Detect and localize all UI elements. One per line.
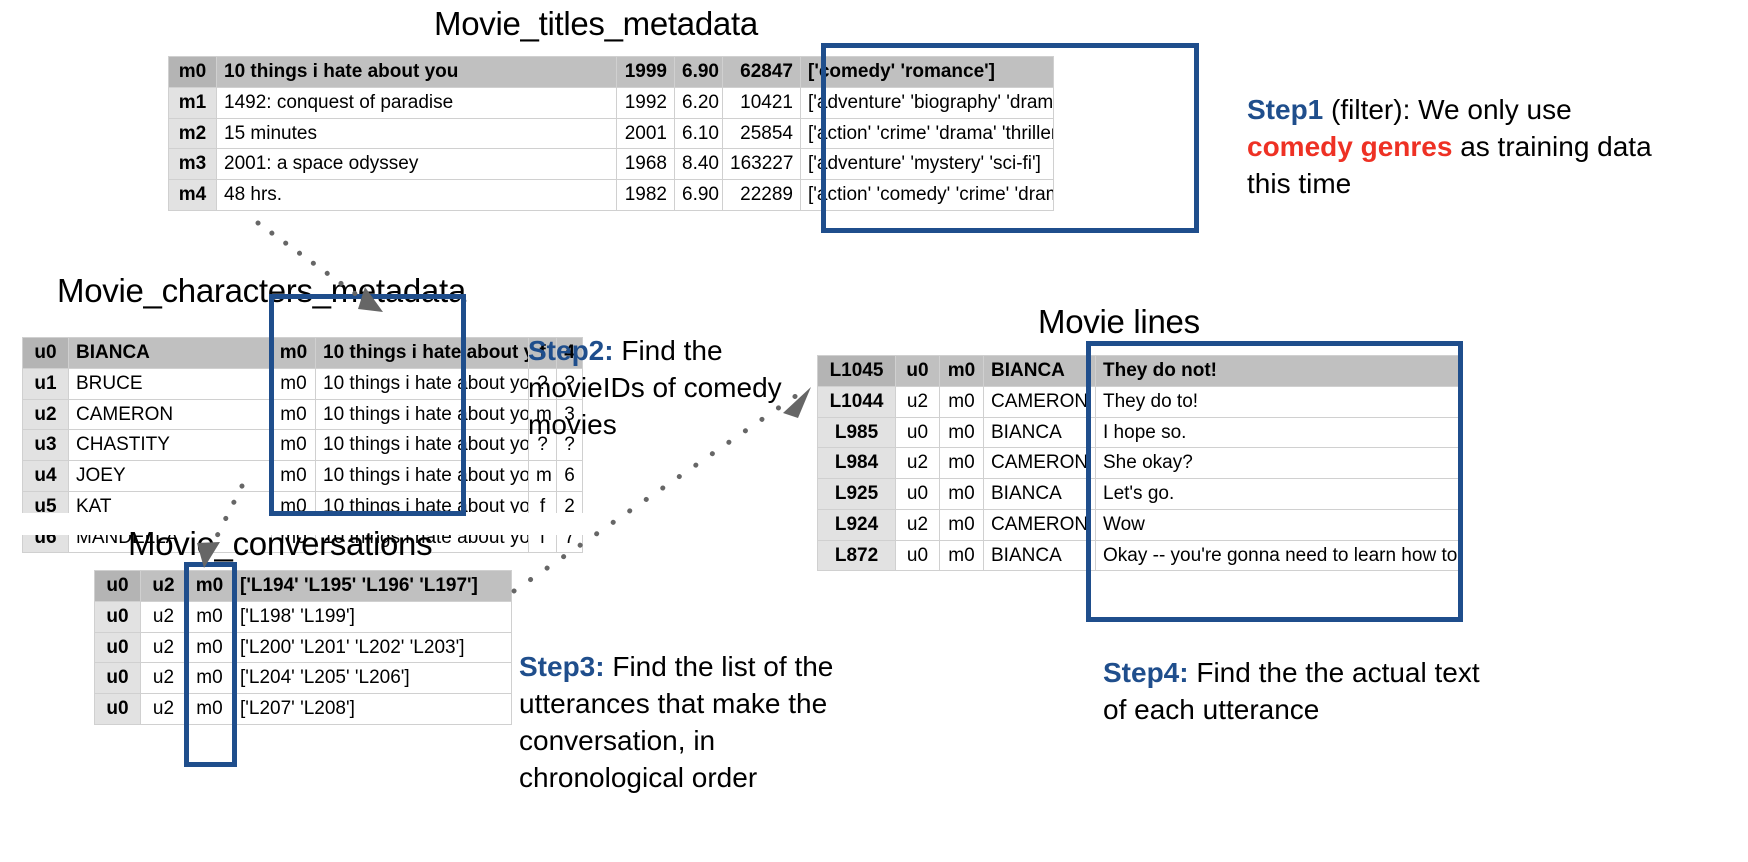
step4-label: Step4: <box>1103 657 1189 688</box>
line-id: L924 <box>818 509 896 540</box>
character-id: u2 <box>23 399 69 430</box>
conversation-utterance-list: ['L194' 'L195' 'L196' 'L197'] <box>233 571 512 602</box>
line-id: L985 <box>818 417 896 448</box>
character-name: BIANCA <box>69 338 272 369</box>
table-row: L872 u0 m0 BIANCA Okay -- you're gonna n… <box>818 540 1463 571</box>
table-row: u2 CAMERON m0 10 things i hate about you… <box>23 399 583 430</box>
caption-movie-lines: Movie lines <box>1038 303 1200 341</box>
line-character-id: u2 <box>896 386 940 417</box>
table-row: L985 u0 m0 BIANCA I hope so. <box>818 417 1463 448</box>
conversation-movie-id: m0 <box>187 632 233 663</box>
character-movie-id: m0 <box>272 399 316 430</box>
conversation-movie-id: m0 <box>187 663 233 694</box>
character-movie-id: m0 <box>272 368 316 399</box>
conversation-utterance-list: ['L207' 'L208'] <box>233 694 512 725</box>
line-id: L984 <box>818 448 896 479</box>
movie-votes: 10421 <box>723 87 801 118</box>
movie-id: m4 <box>169 180 217 211</box>
line-id: L1045 <box>818 356 896 387</box>
line-id: L925 <box>818 479 896 510</box>
movie-genres: ['action' 'crime' 'drama' 'thriller'] <box>801 118 1054 149</box>
character-id: u4 <box>23 461 69 492</box>
conversation-utterance-list: ['L200' 'L201' 'L202' 'L203'] <box>233 632 512 663</box>
conversation-user-a: u0 <box>95 571 141 602</box>
line-text: Let's go. <box>1096 479 1463 510</box>
conversation-user-b: u2 <box>141 601 187 632</box>
conversation-utterance-list: ['L204' 'L205' 'L206'] <box>233 663 512 694</box>
connector-characters-to-titles <box>250 215 410 325</box>
movie-title: 10 things i hate about you <box>217 57 617 88</box>
line-character-name: BIANCA <box>984 356 1096 387</box>
character-id: u3 <box>23 430 69 461</box>
character-movie-title: 10 things i hate about you <box>316 368 529 399</box>
line-character-name: BIANCA <box>984 540 1096 571</box>
movie-id: m2 <box>169 118 217 149</box>
movie-rating: 8.40 <box>675 149 723 180</box>
character-name: CAMERON <box>69 399 272 430</box>
step4-note: Step4: Find the the actual text of each … <box>1103 655 1483 729</box>
step1-line3: this time <box>1247 168 1351 199</box>
movie-rating: 6.90 <box>675 57 723 88</box>
line-movie-id: m0 <box>940 356 984 387</box>
movie-id: m1 <box>169 87 217 118</box>
line-character-name: CAMERON <box>984 386 1096 417</box>
conversation-user-a: u0 <box>95 694 141 725</box>
table-row: m2 15 minutes 2001 6.10 25854 ['action' … <box>169 118 1054 149</box>
table-row: m4 48 hrs. 1982 6.90 22289 ['action' 'co… <box>169 180 1054 211</box>
conversation-movie-id: m0 <box>187 694 233 725</box>
line-text: Wow <box>1096 509 1463 540</box>
character-movie-title: 10 things i hate about you <box>316 430 529 461</box>
movie-votes: 62847 <box>723 57 801 88</box>
connector-conversations-to-lines <box>508 375 828 600</box>
conversation-user-a: u0 <box>95 601 141 632</box>
table-row: u1 BRUCE m0 10 things i hate about you ?… <box>23 368 583 399</box>
character-movie-title: 10 things i hate about you <box>316 399 529 430</box>
line-text: Okay -- you're gonna need to learn how t… <box>1096 540 1463 571</box>
conversation-user-b: u2 <box>141 632 187 663</box>
line-character-id: u0 <box>896 417 940 448</box>
step2-label: Step2: <box>528 335 614 366</box>
movie-title: 48 hrs. <box>217 180 617 211</box>
step1-tail: as training data <box>1452 131 1651 162</box>
movie-title: 2001: a space odyssey <box>217 149 617 180</box>
character-name: BRUCE <box>69 368 272 399</box>
table-row: L984 u2 m0 CAMERON She okay? <box>818 448 1463 479</box>
table-row: u0 u2 m0 ['L200' 'L201' 'L202' 'L203'] <box>95 632 512 663</box>
line-id: L1044 <box>818 386 896 417</box>
movie-lines-table: L1045 u0 m0 BIANCA They do not! L1044 u2… <box>817 355 1463 571</box>
table-row: u0 u2 m0 ['L207' 'L208'] <box>95 694 512 725</box>
line-text: They do not! <box>1096 356 1463 387</box>
line-text: I hope so. <box>1096 417 1463 448</box>
movie-year: 1968 <box>617 149 675 180</box>
line-character-name: BIANCA <box>984 417 1096 448</box>
table-row: m1 1492: conquest of paradise 1992 6.20 … <box>169 87 1054 118</box>
character-id: u1 <box>23 368 69 399</box>
character-movie-title: 10 things i hate about you <box>316 338 529 369</box>
conversation-user-b: u2 <box>141 663 187 694</box>
movie-id: m3 <box>169 149 217 180</box>
conversation-user-a: u0 <box>95 663 141 694</box>
table-row: u4 JOEY m0 10 things i hate about you m … <box>23 461 583 492</box>
step1-emphasis: comedy genres <box>1247 131 1452 162</box>
table-row: u0 u2 m0 ['L204' 'L205' 'L206'] <box>95 663 512 694</box>
movie-genres: ['adventure' 'biography' 'drama' 'histor… <box>801 87 1054 118</box>
table-row: u0 u2 m0 ['L198' 'L199'] <box>95 601 512 632</box>
table-row: L1044 u2 m0 CAMERON They do to! <box>818 386 1463 417</box>
character-id: u0 <box>23 338 69 369</box>
line-id: L872 <box>818 540 896 571</box>
line-character-id: u0 <box>896 479 940 510</box>
movie-votes: 25854 <box>723 118 801 149</box>
table-row: L1045 u0 m0 BIANCA They do not! <box>818 356 1463 387</box>
line-character-name: CAMERON <box>984 509 1096 540</box>
step1-note: Step1 (filter): We only use comedy genre… <box>1247 92 1737 203</box>
conversation-utterance-list: ['L198' 'L199'] <box>233 601 512 632</box>
line-text: She okay? <box>1096 448 1463 479</box>
conversation-movie-id: m0 <box>187 601 233 632</box>
line-character-id: u0 <box>896 356 940 387</box>
line-movie-id: m0 <box>940 417 984 448</box>
step3-label: Step3: <box>519 651 605 682</box>
line-movie-id: m0 <box>940 479 984 510</box>
table-row: u3 CHASTITY m0 10 things i hate about yo… <box>23 430 583 461</box>
character-movie-id: m0 <box>272 461 316 492</box>
movie-genres: ['comedy' 'romance'] <box>801 57 1054 88</box>
step1-lead: (filter): We only use <box>1323 94 1571 125</box>
movie-genres: ['action' 'comedy' 'crime' 'drama' 'thri… <box>801 180 1054 211</box>
movie-year: 1999 <box>617 57 675 88</box>
line-movie-id: m0 <box>940 448 984 479</box>
line-character-name: CAMERON <box>984 448 1096 479</box>
movie-votes: 163227 <box>723 149 801 180</box>
movie-rating: 6.10 <box>675 118 723 149</box>
step3-note: Step3: Find the list of the utterances t… <box>519 649 864 797</box>
conversation-user-a: u0 <box>95 632 141 663</box>
line-movie-id: m0 <box>940 540 984 571</box>
character-movie-id: m0 <box>272 430 316 461</box>
connector-conversations-to-characters <box>148 480 268 585</box>
movie-rating: 6.20 <box>675 87 723 118</box>
line-text: They do to! <box>1096 386 1463 417</box>
movie-title: 15 minutes <box>217 118 617 149</box>
movie-year: 2001 <box>617 118 675 149</box>
line-character-id: u2 <box>896 448 940 479</box>
movie-votes: 22289 <box>723 180 801 211</box>
movie-year: 1982 <box>617 180 675 211</box>
movie-rating: 6.90 <box>675 180 723 211</box>
line-character-id: u2 <box>896 509 940 540</box>
table-row: m0 10 things i hate about you 1999 6.90 … <box>169 57 1054 88</box>
table-row: L924 u2 m0 CAMERON Wow <box>818 509 1463 540</box>
step1-label: Step1 <box>1247 94 1323 125</box>
movie-titles-metadata-table: m0 10 things i hate about you 1999 6.90 … <box>168 56 1054 211</box>
line-character-id: u0 <box>896 540 940 571</box>
movie-title: 1492: conquest of paradise <box>217 87 617 118</box>
line-movie-id: m0 <box>940 386 984 417</box>
movie-genres: ['adventure' 'mystery' 'sci-fi'] <box>801 149 1054 180</box>
movie-id: m0 <box>169 57 217 88</box>
caption-movie-titles-metadata: Movie_titles_metadata <box>434 5 758 43</box>
movie-conversations-table: u0 u2 m0 ['L194' 'L195' 'L196' 'L197'] u… <box>94 570 512 725</box>
table-row: m3 2001: a space odyssey 1968 8.40 16322… <box>169 149 1054 180</box>
character-movie-title: 10 things i hate about you <box>316 461 529 492</box>
line-character-name: BIANCA <box>984 479 1096 510</box>
character-movie-id: m0 <box>272 338 316 369</box>
line-movie-id: m0 <box>940 509 984 540</box>
table-row: L925 u0 m0 BIANCA Let's go. <box>818 479 1463 510</box>
character-name: CHASTITY <box>69 430 272 461</box>
movie-year: 1992 <box>617 87 675 118</box>
conversation-user-b: u2 <box>141 694 187 725</box>
table-row: u0 BIANCA m0 10 things i hate about you … <box>23 338 583 369</box>
